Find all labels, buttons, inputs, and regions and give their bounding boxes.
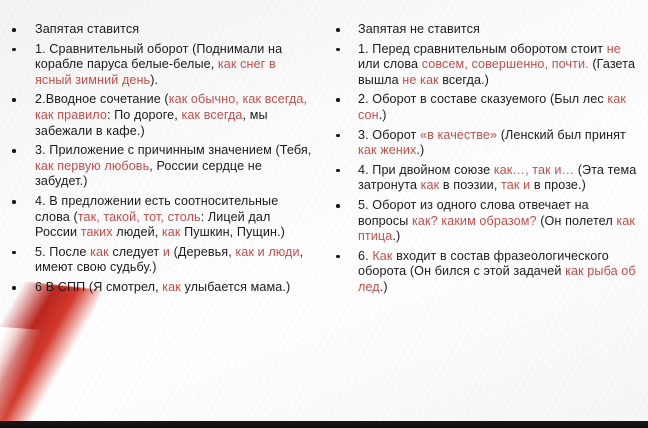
- plain-text-run: .): [392, 229, 400, 243]
- highlighted-term: как: [162, 280, 181, 294]
- plain-text-run: : По дороге,: [107, 108, 182, 122]
- plain-text-run: 2. Оборот в составе сказуемого (Был лес: [358, 92, 607, 106]
- plain-text-run: в прозе.): [530, 178, 586, 192]
- list-item: 6. Как входит в состав фразеологического…: [334, 249, 638, 296]
- highlighted-term: Как: [372, 249, 392, 263]
- highlighted-term: совсем, совершенно, почти.: [422, 57, 589, 71]
- highlighted-term: как жених: [358, 143, 416, 157]
- plain-text-run: улыбается мама.): [181, 280, 290, 294]
- left-column-heading: Запятая ставится: [10, 22, 314, 38]
- plain-text-run: 1. Перед сравнительным оборотом стоит: [358, 42, 607, 56]
- right-column-heading: Запятая не ставится: [334, 22, 638, 38]
- highlighted-term: так и: [501, 178, 530, 192]
- highlighted-term: так, такой, тот, столь: [78, 210, 201, 224]
- highlighted-term: не как: [402, 73, 438, 87]
- highlighted-term: не: [607, 42, 621, 56]
- highlighted-term: как первую любовь: [35, 159, 149, 173]
- highlighted-term: как? каким образом?: [412, 214, 537, 228]
- plain-text-run: Пушкин, Пущин.): [181, 225, 285, 239]
- red-diagonal-accent-icon: [0, 279, 101, 428]
- highlighted-term: как: [162, 225, 181, 239]
- plain-text-run: следует: [109, 245, 163, 259]
- list-item: 6 В СПП (Я смотрел, как улыбается мама.): [10, 280, 314, 296]
- plain-text-run: .): [380, 280, 388, 294]
- plain-text-run: 4. При двойном союзе: [358, 163, 494, 177]
- highlighted-term: как: [90, 245, 109, 259]
- list-item: 1. Сравнительный оборот (Поднимали на ко…: [10, 42, 314, 89]
- highlighted-term: как и люди: [235, 245, 299, 259]
- plain-text-run: ).: [150, 73, 158, 87]
- plain-text-run: (Ленский был принят: [497, 128, 626, 142]
- list-item: 4. При двойном союзе как…, так и… (Эта т…: [334, 163, 638, 194]
- plain-text-run: всегда.): [439, 73, 489, 87]
- list-item: 1. Перед сравнительным оборотом стоит не…: [334, 42, 638, 89]
- list-comma-required: Запятая ставится 1. Сравнительный оборот…: [10, 22, 314, 296]
- list-item: 3. Оборот «в качестве» (Ленский был прин…: [334, 128, 638, 159]
- list-comma-not-required: Запятая не ставится 1. Перед сравнительн…: [334, 22, 638, 296]
- highlighted-term: как…, так и…: [494, 163, 574, 177]
- highlighted-term: как: [421, 178, 440, 192]
- two-column-content: Запятая ставится 1. Сравнительный оборот…: [0, 22, 648, 300]
- highlighted-term: как всегда: [182, 108, 243, 122]
- slide-canvas: Запятая ставится 1. Сравнительный оборот…: [0, 0, 648, 428]
- plain-text-run: .): [379, 108, 387, 122]
- list-item: 5. После как следует и (Деревья, как и л…: [10, 245, 314, 276]
- column-comma-required: Запятая ставится 1. Сравнительный оборот…: [0, 22, 324, 300]
- red-diagonal-accent-highlight-icon: [0, 325, 62, 428]
- plain-text-run: 3. Оборот: [358, 128, 420, 142]
- bottom-accent-band: [0, 421, 648, 428]
- plain-text-run: 6.: [358, 249, 372, 263]
- plain-text-run: людей,: [113, 225, 162, 239]
- list-item: 3. Приложение с причинным значением (Теб…: [10, 143, 314, 190]
- column-comma-not-required: Запятая не ставится 1. Перед сравнительн…: [324, 22, 648, 300]
- plain-text-run: 5. После: [35, 245, 90, 259]
- plain-text-run: 6 В СПП (Я смотрел,: [35, 280, 162, 294]
- highlighted-term: «в качестве»: [420, 128, 497, 142]
- list-item: 4. В предложении есть соотносительные сл…: [10, 194, 314, 241]
- plain-text-run: 3. Приложение с причинным значением (Теб…: [35, 143, 311, 157]
- plain-text-run: в поэзии,: [439, 178, 501, 192]
- list-item: 2.Вводное сочетание (как обычно, как все…: [10, 92, 314, 139]
- list-item: 5. Оборот из одного слова отвечает на во…: [334, 198, 638, 245]
- plain-text-run: 2.Вводное сочетание (: [35, 92, 169, 106]
- plain-text-run: или слова: [358, 57, 422, 71]
- plain-text-run: (Деревья,: [170, 245, 235, 259]
- highlighted-term: и: [163, 245, 170, 259]
- plain-text-run: .): [416, 143, 424, 157]
- list-item: 2. Оборот в составе сказуемого (Был лес …: [334, 92, 638, 123]
- highlighted-term: таких: [81, 225, 113, 239]
- plain-text-run: (Он полетел: [537, 214, 617, 228]
